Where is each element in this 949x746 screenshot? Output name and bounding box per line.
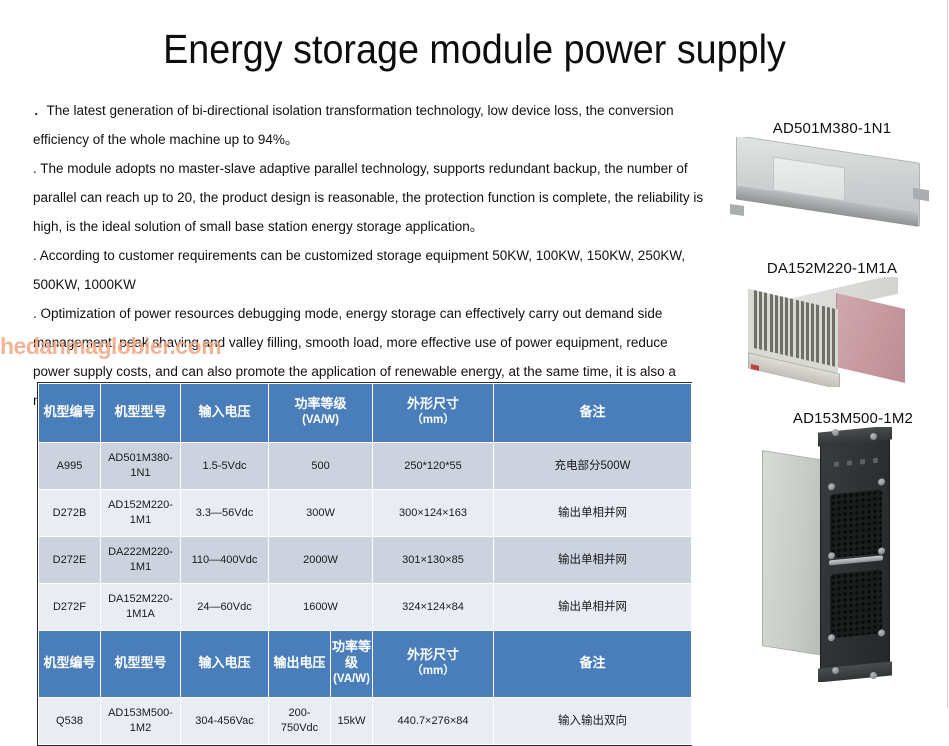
header-cell-dimensions: 外形尺寸 （mm） bbox=[373, 384, 494, 443]
cell-dimensions: 301×130×85 bbox=[373, 537, 494, 584]
table-row: D272B AD152M220-1M1 3.3—56Vdc 300W 300×1… bbox=[39, 490, 692, 537]
cell-model-no: Q538 bbox=[39, 698, 101, 745]
product-block-3: AD153M500-1M2 bbox=[760, 410, 946, 682]
header-cell-model-no: 机型编号 bbox=[39, 631, 101, 698]
finned-module-photo bbox=[718, 277, 943, 387]
cell-model-no: D272B bbox=[39, 490, 101, 537]
body-copy: ．The latest generation of bi-directional… bbox=[33, 96, 705, 415]
table-row: D272F DA152M220-1M1A 24—60Vdc 1600W 324×… bbox=[39, 584, 692, 631]
cell-dimensions: 440.7×276×84 bbox=[373, 698, 494, 745]
product-label-2: DA152M220-1M1A bbox=[718, 260, 946, 277]
header-cell-dimensions: 外形尺寸 （mm） bbox=[373, 631, 494, 698]
cell-power-level: 300W bbox=[269, 490, 373, 537]
header-cell-remarks: 备注 bbox=[494, 631, 692, 698]
cell-model-no: D272E bbox=[39, 537, 101, 584]
cell-model-type: DA152M220-1M1A bbox=[101, 584, 181, 631]
cell-model-type: AD152M220-1M1 bbox=[101, 490, 181, 537]
cell-remarks: 输出单相并网 bbox=[494, 490, 692, 537]
product-label-1: AD501M380-1N1 bbox=[718, 120, 946, 137]
header-cell-power-level: 功率等级 (VA/W) bbox=[331, 631, 373, 698]
cell-remarks: 输出单相并网 bbox=[494, 537, 692, 584]
table-header-row-1: 机型编号 机型型号 输入电压 功率等级 (VA/W) 外形尺寸 （mm） 备注 bbox=[39, 384, 692, 443]
product-label-3: AD153M500-1M2 bbox=[760, 410, 946, 427]
header-cell-input-voltage: 输入电压 bbox=[181, 384, 269, 443]
table-header-row-2: 机型编号 机型型号 输入电压 输出电压 功率等级 (VA/W) 外形尺寸 （mm… bbox=[39, 631, 692, 698]
table-row: Q538 AD153M500-1M2 304-456Vac 200-750Vdc… bbox=[39, 698, 692, 745]
cell-remarks: 输出单相并网 bbox=[494, 584, 692, 631]
page-title: Energy storage module power supply bbox=[38, 26, 911, 73]
header-cell-output-voltage: 输出电压 bbox=[269, 631, 331, 698]
body-paragraph-3: . According to customer requirements can… bbox=[33, 241, 705, 299]
table-row: D272E DA222M220-1M1 110—400Vdc 2000W 301… bbox=[39, 537, 692, 584]
cell-power-level: 15kW bbox=[331, 698, 373, 745]
product-block-1: AD501M380-1N1 bbox=[718, 120, 946, 242]
cell-output-voltage: 200-750Vdc bbox=[269, 698, 331, 745]
cell-model-type: AD501M380-1N1 bbox=[101, 443, 181, 490]
cell-model-no: D272F bbox=[39, 584, 101, 631]
cell-input-voltage: 3.3—56Vdc bbox=[181, 490, 269, 537]
header-cell-model-type: 机型型号 bbox=[101, 631, 181, 698]
cell-dimensions: 300×124×163 bbox=[373, 490, 494, 537]
rack-module-photo bbox=[760, 427, 940, 682]
cell-input-voltage: 1.5-5Vdc bbox=[181, 443, 269, 490]
header-cell-model-type: 机型型号 bbox=[101, 384, 181, 443]
cell-input-voltage: 304-456Vac bbox=[181, 698, 269, 745]
flat-chassis-photo bbox=[718, 137, 943, 242]
cell-input-voltage: 24—60Vdc bbox=[181, 584, 269, 631]
page-edge-line bbox=[947, 0, 948, 708]
header-cell-remarks: 备注 bbox=[494, 384, 692, 443]
cell-remarks: 输入输出双向 bbox=[494, 698, 692, 745]
header-cell-input-voltage: 输入电压 bbox=[181, 631, 269, 698]
cell-power-level: 2000W bbox=[269, 537, 373, 584]
table-row: A995 AD501M380-1N1 1.5-5Vdc 500 250*120*… bbox=[39, 443, 692, 490]
cell-remarks: 充电部分500W bbox=[494, 443, 692, 490]
cell-power-level: 1600W bbox=[269, 584, 373, 631]
cell-model-type: AD153M500-1M2 bbox=[101, 698, 181, 745]
body-paragraph-1: ．The latest generation of bi-directional… bbox=[33, 96, 705, 154]
cell-dimensions: 324×124×84 bbox=[373, 584, 494, 631]
product-block-2: DA152M220-1M1A bbox=[718, 260, 946, 387]
cell-model-type: DA222M220-1M1 bbox=[101, 537, 181, 584]
body-paragraph-2: . The module adopts no master-slave adap… bbox=[33, 154, 705, 241]
header-cell-model-no: 机型编号 bbox=[39, 384, 101, 443]
cell-model-no: A995 bbox=[39, 443, 101, 490]
header-cell-power-level: 功率等级 (VA/W) bbox=[269, 384, 373, 443]
spec-table: 机型编号 机型型号 输入电压 功率等级 (VA/W) 外形尺寸 （mm） 备注 … bbox=[37, 382, 692, 746]
cell-dimensions: 250*120*55 bbox=[373, 443, 494, 490]
cell-power-level: 500 bbox=[269, 443, 373, 490]
cell-input-voltage: 110—400Vdc bbox=[181, 537, 269, 584]
